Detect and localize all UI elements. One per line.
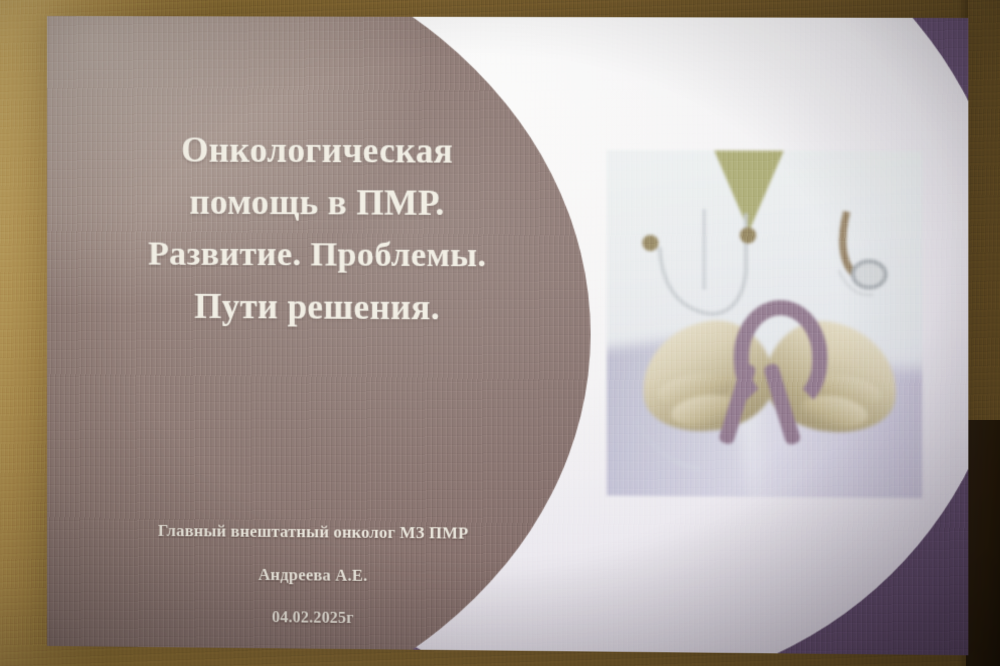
photo-projection-haze — [607, 150, 923, 498]
credit-presenter: Андреева А.Е. — [77, 551, 550, 598]
credit-role: Главный внештатный онколог МЗ ПМР — [77, 508, 550, 555]
slide-title: Онкологическая помощь в ПМР. Развитие. П… — [91, 124, 544, 335]
slide-credits: Главный внештатный онколог МЗ ПМР Андрее… — [77, 508, 550, 642]
title-line-4: Пути решения. — [91, 280, 544, 335]
title-line-2: помощь в ПМР. — [91, 176, 544, 230]
presentation-slide: Онкологическая помощь в ПМР. Развитие. П… — [47, 16, 968, 655]
title-line-1: Онкологическая — [91, 124, 544, 178]
title-line-3: Развитие. Проблемы. — [91, 228, 544, 283]
credit-date: 04.02.2025г — [77, 594, 550, 642]
projected-slide-photo: Онкологическая помощь в ПМР. Развитие. П… — [0, 0, 1000, 666]
doorway-dark-opening — [966, 420, 1000, 666]
slide-photo-doctor-with-ribbon — [607, 150, 923, 498]
